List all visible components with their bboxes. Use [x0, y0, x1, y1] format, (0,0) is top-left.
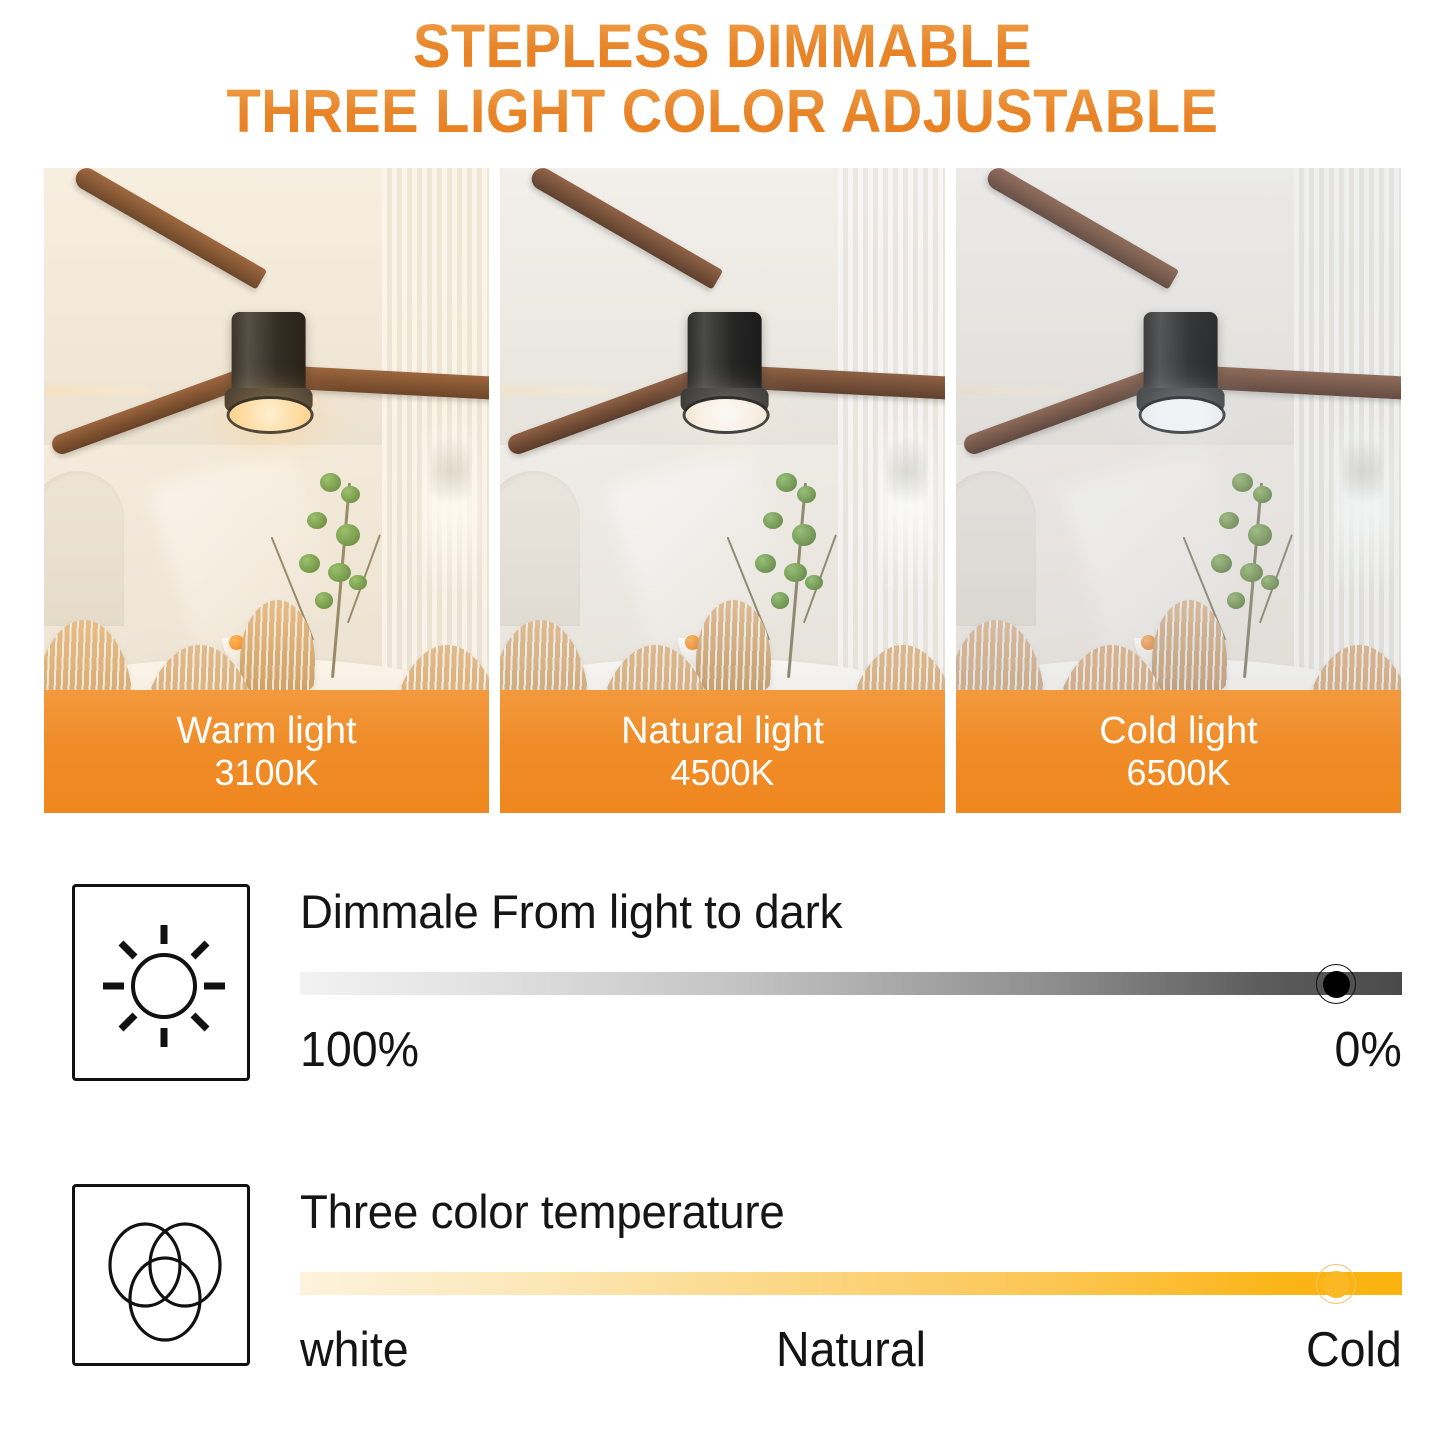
light-color-panels: Warm light 3100K [44, 168, 1401, 813]
panel-caption: Natural light 4500K [500, 690, 945, 813]
panel-warm-light: Warm light 3100K [44, 168, 489, 813]
feature-title: Three color temperature [300, 1184, 1369, 1239]
dimming-scale: 100% 0% [300, 1022, 1402, 1080]
panel-temperature: 4500K [670, 753, 774, 793]
feature-body: Dimmale From light to dark 100% 0% [300, 884, 1402, 1080]
panel-caption: Warm light 3100K [44, 690, 489, 813]
panel-temperature: 3100K [214, 753, 318, 793]
dimming-slider[interactable] [300, 966, 1402, 1000]
color-temperature-slider-knob[interactable] [1316, 1264, 1356, 1304]
color-temperature-slider[interactable] [300, 1266, 1402, 1300]
dimming-scale-left: 100% [300, 1022, 419, 1078]
panel-name: Warm light [176, 710, 356, 753]
dimming-slider-track[interactable] [300, 972, 1402, 995]
feature-body: Three color temperature white Natural Co… [300, 1184, 1402, 1380]
three-circles-icon [72, 1184, 250, 1366]
feature-title: Dimmale From light to dark [300, 884, 1369, 939]
panel-name: Cold light [1099, 710, 1257, 753]
title-line-2: THREE LIGHT COLOR ADJUSTABLE [58, 79, 1387, 144]
color-temperature-scale-left: white [300, 1322, 409, 1378]
fan-motor-housing [232, 312, 306, 397]
page-title: STEPLESS DIMMABLE THREE LIGHT COLOR ADJU… [0, 14, 1445, 143]
panel-name: Natural light [621, 710, 824, 753]
color-temperature-slider-track[interactable] [300, 1272, 1402, 1295]
panel-cold-light: Cold light 6500K [956, 168, 1401, 813]
dimming-slider-knob[interactable] [1316, 964, 1356, 1004]
panel-caption: Cold light 6500K [956, 690, 1401, 813]
fan-motor-housing [688, 312, 762, 397]
color-temperature-scale-mid: Natural [776, 1322, 926, 1378]
ceiling-fan [956, 278, 1401, 491]
panel-natural-light: Natural light 4500K [500, 168, 945, 813]
fan-motor-housing [1144, 312, 1218, 397]
sun-icon [72, 884, 250, 1081]
color-temperature-scale: white Natural Cold [300, 1322, 1402, 1380]
product-infographic: STEPLESS DIMMABLE THREE LIGHT COLOR ADJU… [0, 0, 1445, 1445]
dimming-scale-right: 0% [1335, 1022, 1402, 1078]
ceiling-fan [44, 278, 489, 491]
ceiling-fan [500, 278, 945, 491]
panel-temperature: 6500K [1126, 753, 1230, 793]
title-line-1: STEPLESS DIMMABLE [58, 14, 1387, 79]
color-temperature-scale-right: Cold [1306, 1322, 1402, 1378]
